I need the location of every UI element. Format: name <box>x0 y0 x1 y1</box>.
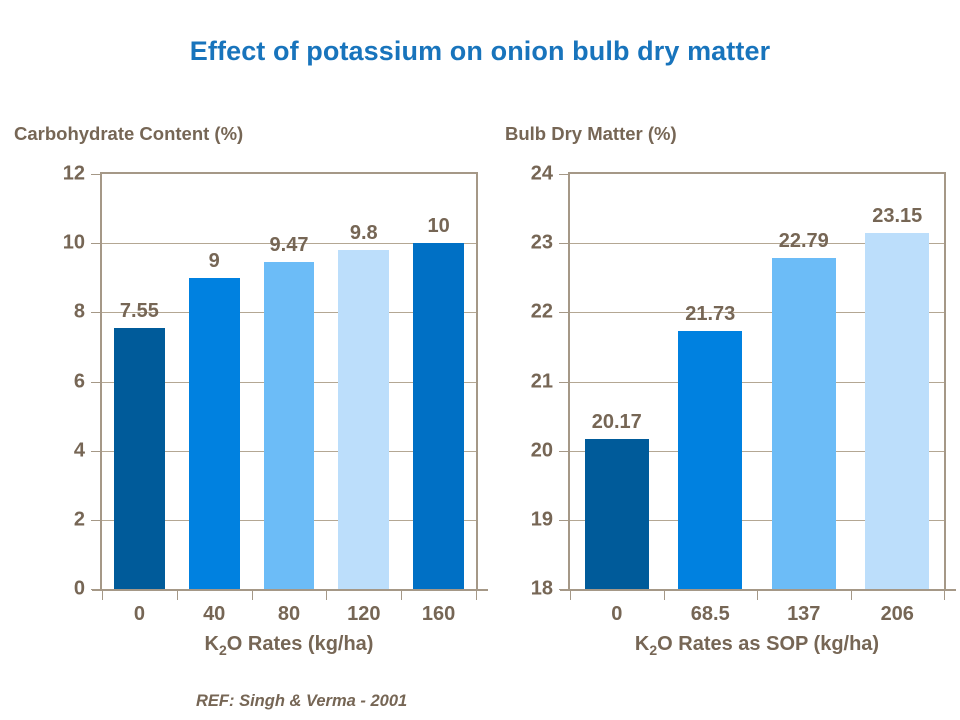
x-axis-line <box>560 589 956 591</box>
chart-axis-title-right: Bulb Dry Matter (%) <box>505 123 677 145</box>
bar-carbohydrate-content-160[interactable]: 10 <box>413 243 464 589</box>
x-axis-caption-left: K2O Rates (kg/ha) <box>100 633 478 658</box>
bar-value-label: 7.55 <box>120 300 159 323</box>
x-caption-suffix-left: O Rates (kg/ha) <box>227 633 374 655</box>
y-axis-tick <box>91 451 102 452</box>
y-axis-tick <box>559 312 570 313</box>
bar-value-label: 9 <box>209 250 220 273</box>
bar-bulb-dry-matter-137[interactable]: 22.79 <box>772 258 836 589</box>
x-axis-label: 160 <box>422 603 455 626</box>
y-axis-label: 20 <box>531 439 553 462</box>
y-axis-tick <box>559 451 570 452</box>
x-axis-tick <box>757 589 758 600</box>
y-axis-label: 0 <box>74 578 85 601</box>
reference-left: REF: Singh & Verma - 2001 <box>196 692 407 711</box>
x-caption-prefix-left: K <box>205 633 219 655</box>
y-axis-label: 19 <box>531 508 553 531</box>
y-axis-tick <box>91 312 102 313</box>
chart-panel-carbohydrate: Carbohydrate Content (%) 0246810127.5509… <box>0 0 490 720</box>
chart-axis-title-left: Carbohydrate Content (%) <box>14 123 243 145</box>
x-axis-tick <box>664 589 665 600</box>
bar-value-label: 9.8 <box>350 222 378 245</box>
x-caption-suffix-right: O Rates as SOP (kg/ha) <box>657 633 879 655</box>
y-axis-tick <box>559 382 570 383</box>
bar-bulb-dry-matter-0[interactable]: 20.17 <box>585 439 649 589</box>
x-caption-prefix-right: K <box>635 633 649 655</box>
bar-carbohydrate-content-0[interactable]: 7.55 <box>114 328 165 589</box>
y-axis-label: 12 <box>63 163 85 186</box>
bar-bulb-dry-matter-68.5[interactable]: 21.73 <box>678 331 742 589</box>
y-axis-label: 4 <box>74 439 85 462</box>
x-axis-label: 120 <box>347 603 380 626</box>
plot-area-bulb-dry-matter: 1819202122232420.17021.7368.522.7913723.… <box>568 172 946 589</box>
y-axis-label: 24 <box>531 163 553 186</box>
x-axis-caption-right: K2O Rates as SOP (kg/ha) <box>568 633 946 658</box>
x-axis-tick <box>851 589 852 600</box>
x-axis-label: 0 <box>134 603 145 626</box>
x-axis-label: 80 <box>278 603 300 626</box>
x-axis-tick <box>570 589 571 600</box>
x-axis-tick <box>252 589 253 600</box>
y-axis-tick <box>91 243 102 244</box>
x-axis-tick <box>401 589 402 600</box>
bar-carbohydrate-content-80[interactable]: 9.47 <box>264 262 315 590</box>
y-axis-label: 22 <box>531 301 553 324</box>
bar-value-label: 10 <box>427 215 449 238</box>
bar-carbohydrate-content-120[interactable]: 9.8 <box>338 250 389 589</box>
y-axis-tick <box>91 174 102 175</box>
y-axis-label: 21 <box>531 370 553 393</box>
y-axis-label: 18 <box>531 578 553 601</box>
bar-value-label: 23.15 <box>872 205 922 228</box>
bar-value-label: 9.47 <box>270 234 309 257</box>
y-axis-tick <box>559 243 570 244</box>
y-axis-tick <box>559 520 570 521</box>
y-axis-tick <box>559 174 570 175</box>
x-axis-line <box>92 589 488 591</box>
x-axis-label: 68.5 <box>691 603 730 626</box>
bar-bulb-dry-matter-206[interactable]: 23.15 <box>865 233 929 589</box>
x-axis-tick <box>326 589 327 600</box>
bar-value-label: 20.17 <box>592 411 642 434</box>
bar-value-label: 21.73 <box>685 303 735 326</box>
bar-value-label: 22.79 <box>779 230 829 253</box>
x-axis-label: 206 <box>881 603 914 626</box>
x-axis-tick <box>476 589 477 600</box>
x-caption-sub-right: 2 <box>649 642 657 658</box>
y-axis-tick <box>91 520 102 521</box>
x-axis-label: 137 <box>787 603 820 626</box>
bar-carbohydrate-content-40[interactable]: 9 <box>189 278 240 589</box>
y-axis-tick <box>91 382 102 383</box>
x-axis-tick <box>102 589 103 600</box>
y-axis-label: 23 <box>531 232 553 255</box>
chart-panel-bulb-dry-matter: Bulb Dry Matter (%) 1819202122232420.170… <box>490 0 960 720</box>
slide-canvas: Effect of potassium on onion bulb dry ma… <box>0 0 960 720</box>
y-axis-label: 8 <box>74 301 85 324</box>
y-axis-label: 2 <box>74 508 85 531</box>
x-axis-label: 0 <box>611 603 622 626</box>
x-axis-tick <box>177 589 178 600</box>
x-axis-label: 40 <box>203 603 225 626</box>
x-axis-tick <box>944 589 945 600</box>
y-axis-label: 10 <box>63 232 85 255</box>
y-axis-label: 6 <box>74 370 85 393</box>
plot-area-carbohydrate: 0246810127.5509409.47809.812010160 <box>100 172 478 589</box>
x-caption-sub-left: 2 <box>219 642 227 658</box>
